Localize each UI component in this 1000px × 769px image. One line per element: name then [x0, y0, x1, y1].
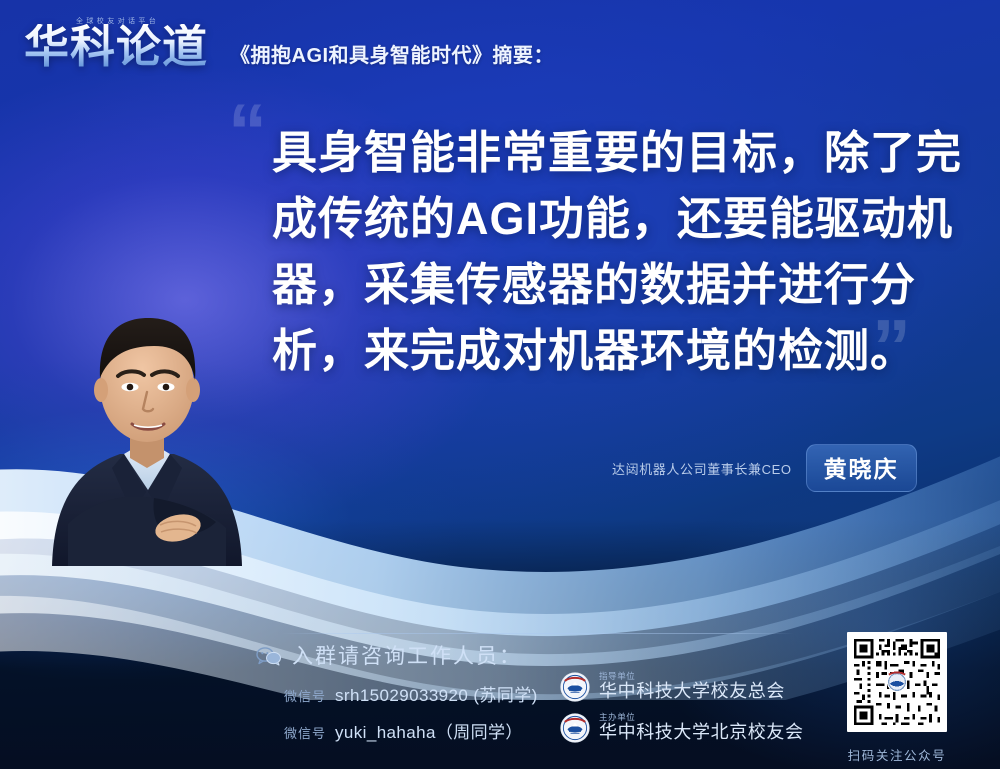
page-title: 《拥抱AGI和具身智能时代》摘要：: [230, 39, 554, 76]
university-emblem-icon: [560, 672, 590, 702]
quote-open-mark: “: [228, 92, 267, 170]
organization-row: 指导单位 华中科技大学校友总会: [560, 672, 785, 702]
wechat-icon: [256, 646, 282, 666]
quote-line: 具身智能非常重要的目标，除了完: [272, 120, 944, 186]
org-kicker: 主办单位: [599, 713, 804, 722]
speaker-name-badge: 黄晓庆: [806, 444, 917, 492]
contact-title: 入群请咨询工作人员：: [292, 640, 522, 670]
footer-divider: [282, 633, 794, 634]
poster-header: 全球校友对话平台 华科论道 《拥抱AGI和具身智能时代》摘要：: [24, 14, 554, 76]
contact-value: srh15029033920 (苏同学): [335, 681, 538, 706]
org-name: 华中科技大学校友总会: [599, 682, 785, 701]
org-kicker: 指导单位: [599, 672, 785, 681]
speaker-portrait: [28, 276, 264, 566]
logo-wordmark: 华科论道: [24, 24, 208, 69]
qr-code-icon[interactable]: [847, 632, 947, 732]
contact-label: 微信号: [284, 686, 326, 705]
brand-logo: 全球校友对话平台 华科论道: [24, 14, 214, 76]
contact-row: 微信号 srh15029033920 (苏同学): [284, 681, 538, 706]
contact-row: 微信号 yuki_hahaha（周同学）: [284, 718, 523, 743]
organization-row: 主办单位 华中科技大学北京校友会: [560, 713, 804, 743]
qr-caption: 扫码关注公众号: [838, 745, 956, 764]
quote-line: 析，来完成对机器环境的检测。: [272, 318, 944, 384]
speaker-attribution: 达闼机器人公司董事长兼CEO 黄晓庆: [612, 444, 917, 492]
quote-close-mark: ”: [872, 308, 911, 386]
quote-line: 器，采集传感器的数据并进行分: [272, 252, 944, 318]
contact-value: yuki_hahaha（周同学）: [335, 718, 523, 743]
contact-label: 微信号: [284, 723, 326, 742]
qr-block: 扫码关注公众号: [838, 632, 956, 764]
quote-line: 成传统的AGI功能，还要能驱动机: [272, 186, 944, 252]
university-emblem-icon: [560, 713, 590, 743]
org-name: 华中科技大学北京校友会: [599, 723, 804, 742]
quote-text: 具身智能非常重要的目标，除了完 成传统的AGI功能，还要能驱动机 器，采集传感器…: [272, 120, 944, 385]
speaker-role: 达闼机器人公司董事长兼CEO: [612, 459, 792, 478]
poster-canvas: 全球校友对话平台 华科论道 《拥抱AGI和具身智能时代》摘要：: [0, 0, 1000, 769]
